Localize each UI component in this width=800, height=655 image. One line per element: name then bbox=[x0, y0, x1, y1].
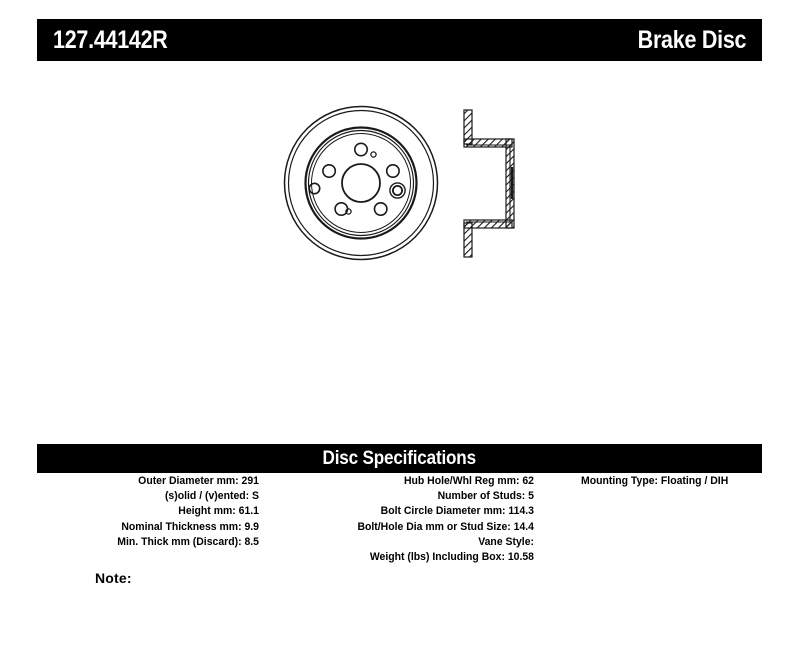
brake-disc-side-section-view bbox=[464, 110, 514, 257]
header-bar: 127.44142R Brake Disc bbox=[37, 19, 762, 61]
spec-column-middle: Hub Hole/Whl Reg mm: 62 Number of Studs:… bbox=[259, 474, 534, 565]
spec-row: Vane Style: bbox=[282, 535, 534, 550]
spec-row: Min. Thick mm (Discard): 8.5 bbox=[48, 535, 259, 550]
spec-column-left: Outer Diameter mm: 291 (s)olid / (v)ente… bbox=[37, 474, 259, 550]
note-block: Note: bbox=[95, 570, 132, 586]
spec-row: Bolt/Hole Dia mm or Stud Size: 14.4 bbox=[282, 520, 534, 535]
spec-row: Mounting Type: Floating / DIH bbox=[581, 474, 753, 489]
product-illustration bbox=[270, 95, 540, 280]
spec-row: Nominal Thickness mm: 9.9 bbox=[48, 520, 259, 535]
spec-column-right: Mounting Type: Floating / DIH bbox=[534, 474, 762, 489]
spec-row: Height mm: 61.1 bbox=[48, 504, 259, 519]
stud-holes bbox=[323, 143, 399, 215]
puller-hole bbox=[390, 183, 405, 198]
spec-row: (s)olid / (v)ented: S bbox=[48, 489, 259, 504]
balance-hole bbox=[309, 183, 319, 193]
spec-row: Outer Diameter mm: 291 bbox=[48, 474, 259, 489]
spec-row: Number of Studs: 5 bbox=[282, 489, 534, 504]
spec-section-header: Disc Specifications bbox=[37, 444, 762, 473]
brake-disc-face-view bbox=[285, 107, 438, 260]
alignment-pin-holes bbox=[346, 152, 376, 214]
spec-row: Weight (lbs) Including Box: 10.58 bbox=[282, 550, 534, 565]
note-label: Note: bbox=[95, 570, 132, 586]
page-title: Brake Disc bbox=[637, 26, 746, 55]
spec-row: Hub Hole/Whl Reg mm: 62 bbox=[282, 474, 534, 489]
part-number-label: 127.44142R bbox=[53, 26, 168, 55]
spec-table: Outer Diameter mm: 291 (s)olid / (v)ente… bbox=[37, 474, 762, 565]
spec-section-title: Disc Specifications bbox=[323, 448, 476, 470]
spec-row: Bolt Circle Diameter mm: 114.3 bbox=[282, 504, 534, 519]
